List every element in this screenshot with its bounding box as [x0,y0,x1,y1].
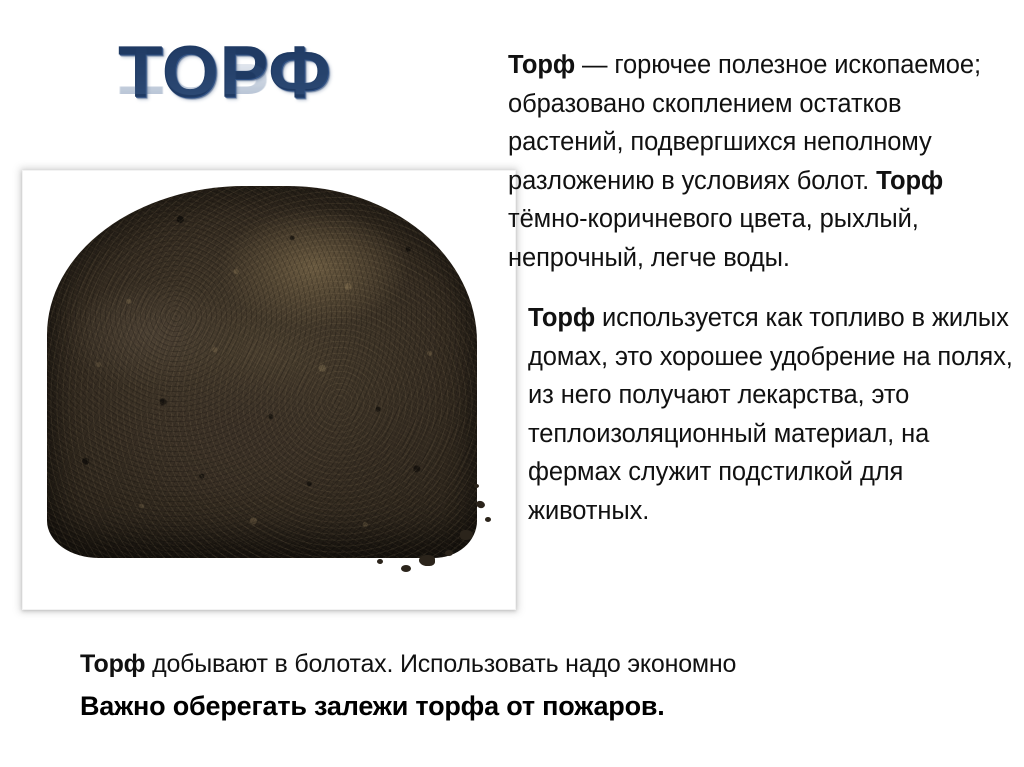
wordart-title-block: ТОРФ ТОРФ [118,36,498,166]
extraction-note: Торф добывают в болотах. Использовать на… [80,646,960,682]
peat-mound-graphic [41,184,493,574]
peat-crumb [445,550,453,556]
fire-warning-line: Важно оберегать залежи торфа от пожаров. [80,686,960,726]
keyword-torf: Торф [80,650,145,678]
peat-grain-layer-2 [47,186,477,558]
peat-crumb [401,565,411,572]
peat-photo-frame [22,170,516,610]
peat-body [47,186,477,558]
body-text-column: Торф — горючее полезное ископаемое; обра… [508,46,1014,530]
peat-photo [33,180,505,599]
slide-canvas: ТОРФ ТОРФ Торф — горючее полезное [0,0,1024,767]
page-title: ТОРФ [118,36,498,110]
extraction-note-text: добывают в болотах. Использовать надо эк… [145,650,736,678]
keyword-torf: Торф [508,51,575,79]
keyword-torf: Торф [876,167,943,195]
footer-text-block: Торф добывают в болотах. Использовать на… [80,646,960,726]
properties-text: тёмно-коричневого цвета, рыхлый, непрочн… [508,205,919,272]
peat-crumb [485,517,491,522]
definition-paragraph: Торф — горючее полезное ископаемое; обра… [508,46,1014,277]
peat-crumb [474,484,479,488]
uses-paragraph: Торф используется как топливо в жилых до… [508,299,1014,530]
keyword-torf: Торф [528,304,595,332]
uses-text: используется как топливо в жилых домах, … [528,304,1013,525]
peat-crumb [419,555,435,566]
peat-crumb [377,559,383,564]
